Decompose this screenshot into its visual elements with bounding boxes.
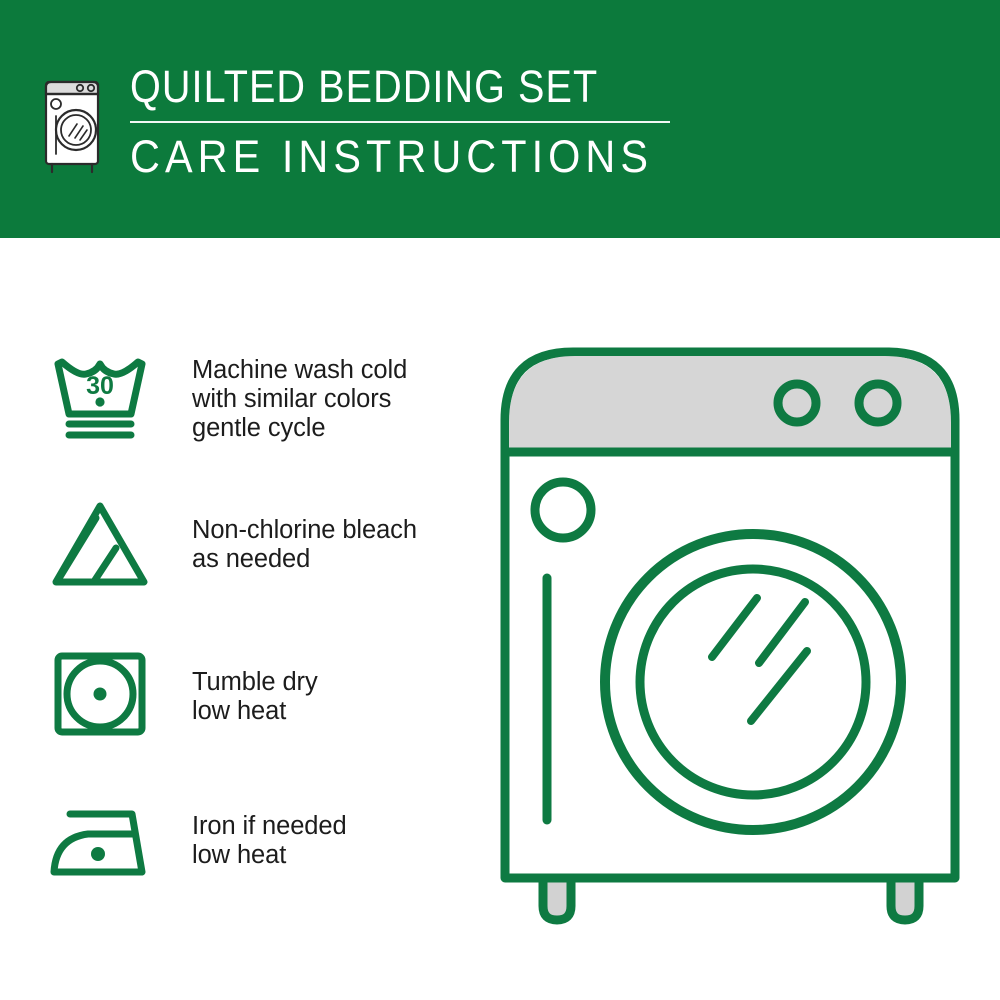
care-text-wash: Machine wash cold with similar colors ge… (192, 338, 407, 443)
wash-tub-30-icon: 30 (48, 342, 152, 446)
title-block: QUILTED BEDDING SET CARE INSTRUCTIONS (130, 62, 699, 182)
tumble-dry-icon (48, 642, 152, 746)
iron-heat-dot (91, 847, 105, 861)
wash-temperature-label: 30 (86, 372, 114, 400)
care-text-tumble-dry: Tumble dry low heat (192, 638, 318, 726)
dry-icon-wrap (44, 638, 156, 746)
dry-heat-dot (94, 688, 107, 701)
header-content: QUILTED BEDDING SET CARE INSTRUCTIONS (42, 62, 699, 182)
wash-icon-wrap: 30 (44, 338, 156, 446)
bleach-icon-wrap (44, 488, 156, 596)
leg-left (543, 878, 571, 920)
header-banner: QUILTED BEDDING SET CARE INSTRUCTIONS (0, 0, 1000, 238)
care-instruction-list: 30 Machine wash cold with similar colors… (44, 338, 464, 938)
wash-heat-dot (95, 397, 104, 406)
triangle-bleach-icon (48, 492, 152, 596)
care-text-bleach: Non-chlorine bleach as needed (192, 488, 417, 574)
control-panel (509, 356, 951, 452)
page-title: QUILTED BEDDING SET (130, 62, 630, 112)
care-row-bleach: Non-chlorine bleach as needed (44, 488, 464, 638)
title-divider (130, 121, 670, 123)
front-load-washing-machine-illustration (495, 330, 965, 930)
care-row-tumble-dry: Tumble dry low heat (44, 638, 464, 788)
iron-icon-wrap (44, 788, 156, 896)
leg-right (891, 878, 919, 920)
page-subtitle: CARE INSTRUCTIONS (130, 132, 653, 182)
iron-icon (48, 792, 152, 896)
washing-machine-logo-icon (42, 68, 104, 178)
care-row-wash: 30 Machine wash cold with similar colors… (44, 338, 464, 488)
care-row-iron: Iron if needed low heat (44, 788, 464, 938)
care-text-iron: Iron if needed low heat (192, 788, 347, 870)
